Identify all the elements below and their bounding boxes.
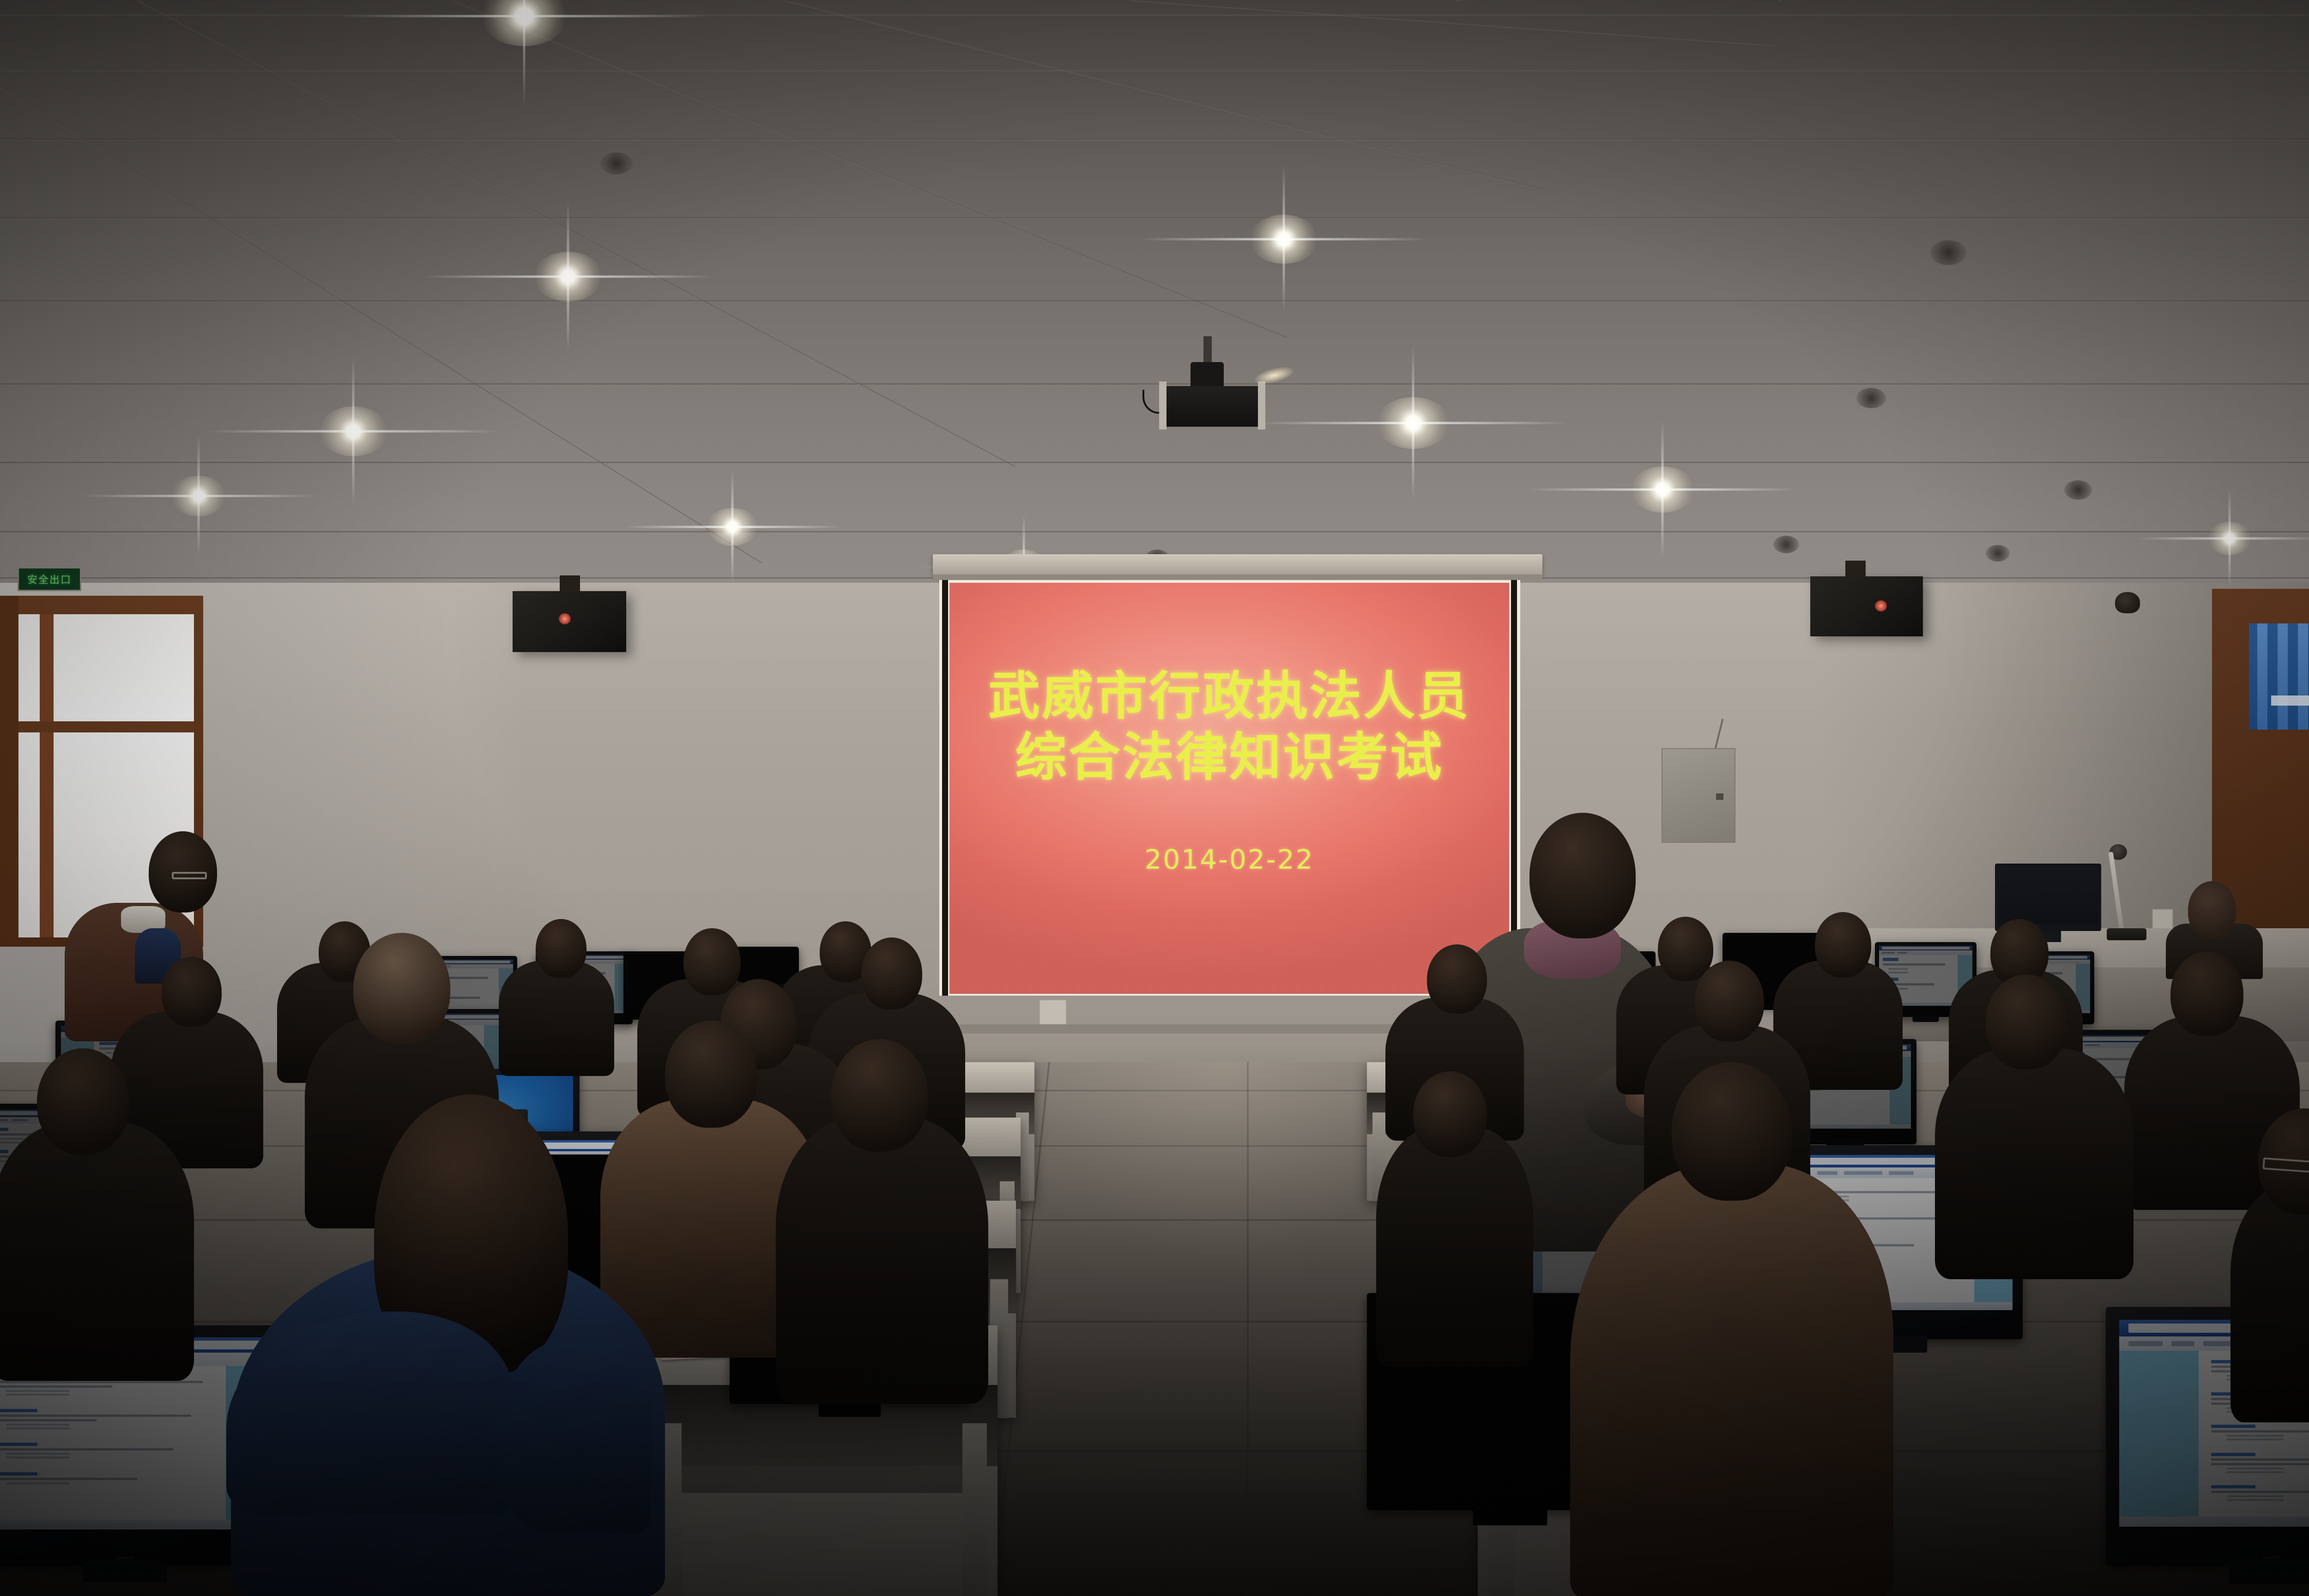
exam-question — [0, 1409, 214, 1429]
address-bar[interactable] — [1882, 947, 1970, 949]
microphone-base — [2107, 928, 2146, 940]
eyeglasses — [172, 872, 207, 879]
browser-titlebar — [1879, 946, 1972, 950]
ceiling-fixture-unlit — [1930, 240, 1966, 265]
monitor-stand — [2229, 1560, 2309, 1584]
person-head — [861, 937, 922, 1010]
monitor-brand-label: Lenovo — [115, 1555, 133, 1561]
speaker-led-indicator — [1875, 600, 1887, 611]
speaker-bracket — [1845, 561, 1866, 577]
person-torso — [776, 1118, 988, 1404]
person-head — [1815, 912, 1871, 978]
person-head — [683, 928, 741, 996]
ceiling-fixture-unlit — [600, 152, 633, 175]
speaker-bracket — [560, 575, 580, 592]
exam-question — [2211, 1453, 2309, 1473]
desk-leg — [962, 1423, 987, 1596]
projector-arm — [1258, 381, 1265, 429]
monitor-stand — [83, 1561, 167, 1583]
wall-socket[interactable] — [1039, 999, 1067, 1025]
question-number-badge — [99, 1042, 118, 1045]
projection-screen-surface: 武威市行政执法人员 综合法律知识考试 2014-02-22 — [949, 583, 1509, 994]
exam-question — [2211, 1485, 2309, 1501]
window-blind-slat — [2298, 623, 2308, 730]
left-door-stile — [40, 614, 54, 937]
monitor-brand-label: Lenovo — [2263, 1555, 2281, 1560]
question-number-badge — [2211, 1425, 2255, 1428]
person-head — [353, 933, 450, 1044]
slide-title: 武威市行政执法人员 综合法律知识考试 — [949, 666, 1509, 788]
monitor-stand — [1473, 1506, 1547, 1525]
podium-monitor-screen — [1998, 867, 2098, 924]
question-number-badge — [0, 1128, 8, 1131]
question-number-badge — [2211, 1453, 2255, 1456]
window-sill-reflection — [2271, 695, 2309, 706]
person-head — [1672, 1062, 1792, 1201]
projection-noise-texture — [949, 583, 1509, 994]
panel-latch[interactable] — [1716, 793, 1723, 800]
question-number-badge — [2211, 1485, 2255, 1488]
exam-question — [0, 1443, 214, 1458]
monitor-stand — [1912, 1016, 1939, 1022]
person-torso — [0, 1122, 194, 1381]
question-number-badge — [0, 1409, 37, 1412]
window-blind-slat — [2278, 623, 2288, 730]
wall-speaker-left — [513, 591, 626, 652]
exit-sign-left: 安全出口 — [18, 567, 81, 591]
person-head — [1427, 944, 1487, 1014]
ceiling — [0, 0, 2309, 586]
person-head — [1413, 1071, 1487, 1157]
projection-screen-rail-left — [942, 580, 948, 996]
person-arm — [499, 1339, 651, 1533]
exam-question-list — [0, 1366, 226, 1520]
exam-question — [1883, 958, 1954, 973]
projection-screen-case — [933, 554, 1542, 575]
wall-camera — [2115, 592, 2140, 613]
person-head — [1695, 961, 1764, 1042]
ceiling-fixture-unlit — [1986, 545, 2010, 562]
right-door-window — [2249, 623, 2309, 730]
ceiling-fixture-unlit — [2064, 480, 2092, 500]
exit-sign-left-label: 安全出口 — [27, 572, 72, 586]
person-head — [37, 1048, 129, 1155]
wall-electrical-panel — [1662, 748, 1735, 843]
projector-arm — [1159, 381, 1167, 429]
exam-sidebar-panel[interactable] — [2119, 1351, 2199, 1516]
question-number-badge — [0, 1472, 37, 1475]
wall-speaker-right — [1810, 576, 1923, 636]
slide-title-line-1: 武威市行政执法人员 — [949, 666, 1509, 727]
ceiling-fixture-unlit — [1773, 536, 1799, 553]
exam-question — [0, 1472, 214, 1484]
question-number-badge — [0, 1443, 37, 1446]
question-number-badge — [0, 1150, 8, 1153]
teacher-head — [2188, 881, 2236, 938]
person-head — [1986, 974, 2067, 1070]
wall-socket[interactable] — [2152, 909, 2173, 929]
browser-statusbar — [2119, 1517, 2309, 1527]
person-torso — [1935, 1048, 2134, 1279]
left-door-jamb — [0, 596, 18, 947]
person-torso — [1570, 1164, 1893, 1596]
person-head — [831, 1039, 928, 1152]
projector-body — [1164, 386, 1261, 427]
left-door-mullion — [14, 721, 194, 732]
exam-room-photo: 安全出口 安全出口 武威市行政执 — [0, 0, 2309, 1596]
person-torso — [1376, 1127, 1533, 1367]
ceiling-fixture-unlit — [1856, 388, 1886, 408]
proctor-head — [1529, 813, 1636, 938]
question-number-badge — [1883, 958, 1898, 961]
desk-shelf — [668, 1466, 977, 1493]
person-head — [536, 919, 586, 978]
person-head — [162, 957, 222, 1027]
exam-question — [2211, 1425, 2309, 1440]
browser-toolbar — [1879, 950, 1972, 955]
slide-title-line-2: 综合法律知识考试 — [949, 727, 1509, 788]
slide-date: 2014-02-22 — [949, 844, 1509, 875]
speaker-led-indicator — [559, 613, 571, 624]
person-head — [665, 1021, 757, 1128]
ceiling-tile-grid — [0, 0, 2309, 586]
window-blind-slat — [2257, 623, 2267, 730]
person-head — [2170, 951, 2243, 1036]
